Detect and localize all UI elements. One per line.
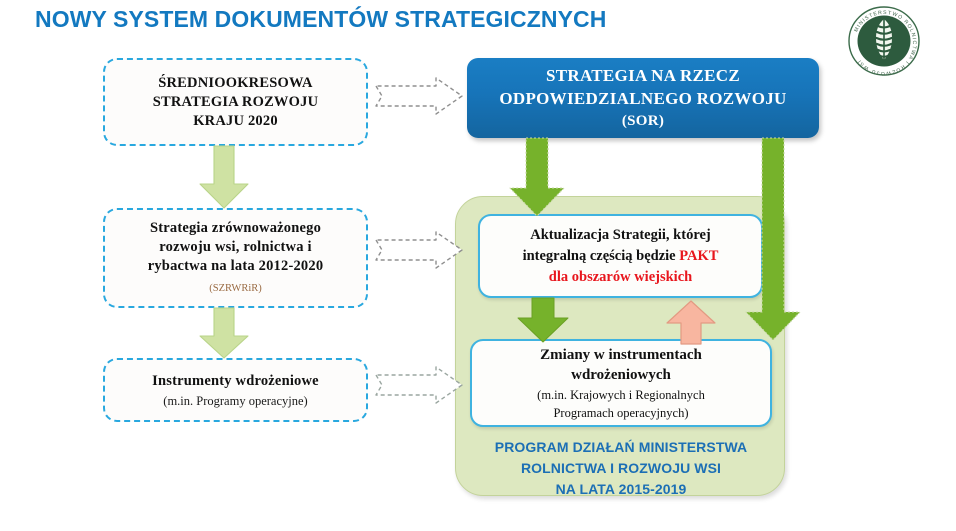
box-srednio-okresowa-strategia[interactable]: ŚREDNIOOKRESOWA STRATEGIA ROZWOJU KRAJU … (103, 58, 368, 146)
box-subtitle: (SZRWRiR) (209, 281, 262, 297)
box-line: rybactwa na lata 2012-2020 (148, 257, 324, 276)
box-line: ŚREDNIOOKRESOWA (153, 74, 318, 93)
zmiany-sub-1: (m.in. Krajowych i Regionalnych (537, 387, 705, 404)
arrow-szrwrir-to-aktualizacja (374, 230, 466, 270)
box-strategia-na-rzecz-odpowiedzialnego-rozwoju[interactable]: STRATEGIA NA RZECZ ODPOWIEDZIALNEGO ROZW… (467, 58, 819, 138)
aktualizacja-line-1: Aktualizacja Strategii, której (530, 225, 711, 246)
aktualizacja-line-3: dla obszarów wiejskich (549, 267, 692, 288)
diagram-canvas: NOWY SYSTEM DOKUMENTÓW STRATEGICZNYCH MI… (0, 0, 956, 531)
box-line: STRATEGIA ROZWOJU (153, 93, 318, 112)
caption-line-3: NA LATA 2015-2019 (465, 479, 777, 500)
sor-line-1: STRATEGIA NA RZECZ (546, 64, 740, 87)
zmiany-line-2: wdrożeniowych (571, 365, 671, 385)
arrow-sredniookresowa-to-szrwrir (196, 146, 252, 210)
box-subtitle: (m.in. Programy operacyjne) (163, 393, 307, 409)
zmiany-line-1: Zmiany w instrumentach (540, 345, 702, 365)
box-line: rozwoju wsi, rolnictwa i (148, 238, 324, 257)
box-strategia-zrownowazonego-rozwoju[interactable]: Strategia zrównoważonego rozwoju wsi, ro… (103, 208, 368, 308)
box-line: KRAJU 2020 (153, 112, 318, 131)
box-aktualizacja-strategii[interactable]: Aktualizacja Strategii, której integraln… (478, 214, 763, 298)
page-title: NOWY SYSTEM DOKUMENTÓW STRATEGICZNYCH (35, 6, 606, 33)
arrow-szrwrir-to-instrumenty (196, 308, 252, 360)
aktualizacja-line-2-prefix: integralną częścią będzie (523, 248, 680, 264)
pakt-keyword: PAKT (679, 248, 718, 264)
arrow-zmiany-to-aktualizacja (665, 299, 717, 345)
box-line: Strategia zrównoważonego (148, 219, 324, 238)
aktualizacja-line-2: integralną częścią będzie PAKT (523, 246, 719, 267)
box-line: Instrumenty wdrożeniowe (152, 372, 319, 391)
arrow-sredniookresowa-to-sor (374, 76, 466, 116)
caption-line-2: ROLNICTWA I ROZWOJU WSI (465, 458, 777, 479)
program-dzialan-caption: PROGRAM DZIAŁAŃ MINISTERSTWA ROLNICTWA I… (465, 437, 777, 500)
arrow-aktualizacja-to-zmiany (514, 298, 572, 344)
arrow-instrumenty-to-zmiany (374, 365, 466, 405)
arrow-sor-to-zmiany (742, 138, 804, 342)
ministry-logo-icon: MINISTERSTWO ROLNICTWA I ROZWOJU WSI (845, 4, 923, 78)
box-zmiany-w-instrumentach[interactable]: Zmiany w instrumentach wdrożeniowych (m.… (470, 339, 772, 427)
box-instrumenty-wdrozeniowe[interactable]: Instrumenty wdrożeniowe (m.in. Programy … (103, 358, 368, 422)
sor-line-2: ODPOWIEDZIALNEGO ROZWOJU (499, 87, 786, 110)
caption-line-1: PROGRAM DZIAŁAŃ MINISTERSTWA (465, 437, 777, 458)
zmiany-sub-2: Programach operacyjnych) (553, 405, 688, 422)
sor-line-3: (SOR) (622, 110, 664, 133)
arrow-sor-to-aktualizacja (506, 138, 568, 218)
